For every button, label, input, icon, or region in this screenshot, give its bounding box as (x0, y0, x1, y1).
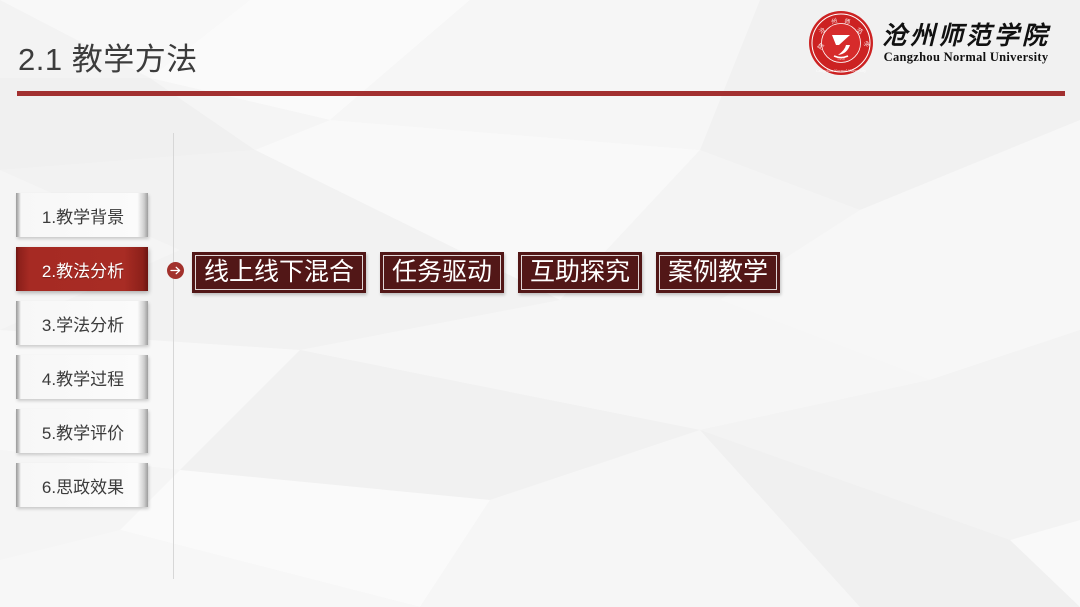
university-wordmark: 沧州师范学院 Cangzhou Normal University (882, 21, 1050, 65)
tag-task-driven[interactable]: 任务驱动 (380, 252, 504, 293)
page-title: 2.1 教学方法 (18, 44, 198, 75)
university-name-cn: 沧州师范学院 (882, 23, 1050, 49)
tag-label: 互助探究 (527, 260, 633, 285)
tag-label: 任务驱动 (389, 260, 495, 285)
svg-text:1958: 1958 (837, 57, 845, 61)
sidebar-item-label: 2.教法分析 (16, 257, 148, 282)
sidebar-item-ideological-political-effect[interactable]: 6.思政效果 (16, 463, 148, 507)
vertical-divider (173, 133, 174, 579)
tag-label: 案例教学 (665, 260, 771, 285)
sidebar-item-teaching-process[interactable]: 4.教学过程 (16, 355, 148, 399)
sidebar-item-label: 3.学法分析 (16, 311, 148, 336)
university-seal-icon: 沧 州 师 范 学 院 Cangzhou Normal University 1… (808, 10, 874, 76)
university-logo: 沧 州 师 范 学 院 Cangzhou Normal University 1… (808, 7, 1050, 79)
title-underline-rule (17, 91, 1065, 96)
tag-case-based-teaching[interactable]: 案例教学 (656, 252, 780, 293)
sidebar-item-label: 4.教学过程 (16, 365, 148, 390)
university-name-en: Cangzhou Normal University (884, 50, 1049, 65)
slide-canvas: 2.1 教学方法 沧 州 师 范 学 院 Cangzhou Normal Uni… (0, 0, 1080, 607)
sidebar-item-teaching-method-analysis[interactable]: 2.教法分析 (16, 247, 148, 291)
tag-label: 线上线下混合 (201, 260, 357, 285)
sidebar-item-label: 6.思政效果 (16, 473, 148, 498)
tag-mutual-inquiry[interactable]: 互助探究 (518, 252, 642, 293)
tag-blended-online-offline[interactable]: 线上线下混合 (192, 252, 366, 293)
sidebar-item-teaching-background[interactable]: 1.教学背景 (16, 193, 148, 237)
svg-text:Cangzhou Normal University: Cangzhou Normal University (816, 69, 866, 73)
arrow-right-icon (167, 262, 184, 279)
sidebar-item-learning-method-analysis[interactable]: 3.学法分析 (16, 301, 148, 345)
sidebar-item-label: 1.教学背景 (16, 203, 148, 228)
section-nav-sidebar: 1.教学背景 2.教法分析 3.学法分析 4.教学过程 5.教学评价 6.思政效… (16, 193, 148, 517)
teaching-method-tag-list: 线上线下混合 任务驱动 互助探究 案例教学 (192, 252, 780, 293)
sidebar-item-label: 5.教学评价 (16, 419, 148, 444)
sidebar-item-teaching-evaluation[interactable]: 5.教学评价 (16, 409, 148, 453)
